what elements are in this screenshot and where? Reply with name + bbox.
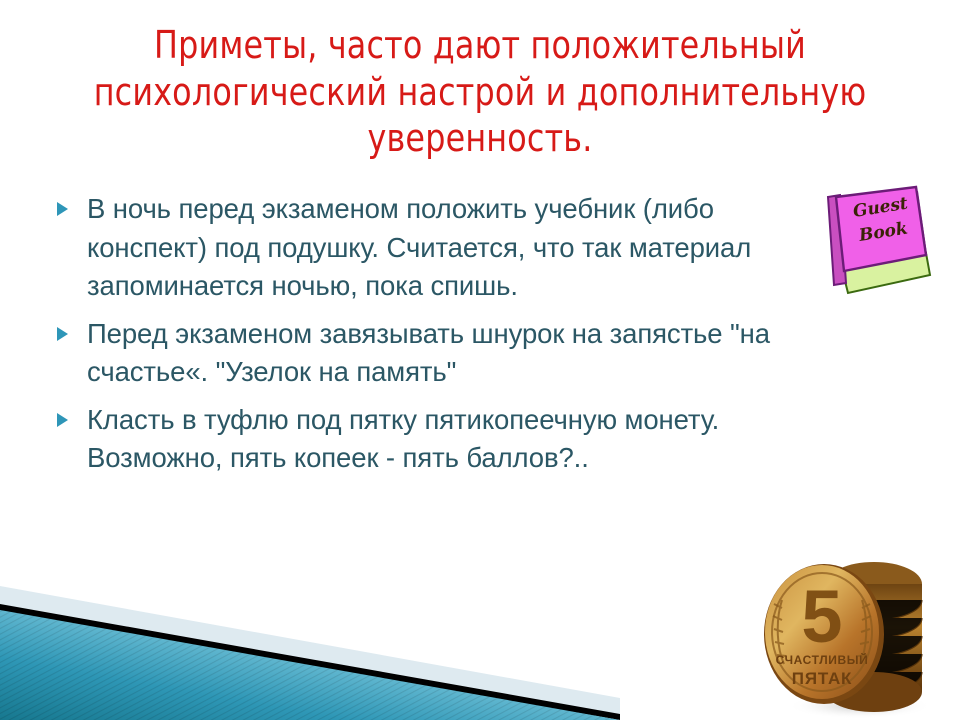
banner-texture <box>0 610 620 720</box>
triangle-bullet-icon <box>57 413 68 427</box>
list-item: Класть в туфлю под пятку пятикопеечную м… <box>55 401 775 478</box>
banner-black-stripe <box>0 604 620 720</box>
list-item-text: Класть в туфлю под пятку пятикопеечную м… <box>87 404 719 474</box>
list-item-text: Перед экзаменом завязывать шнурок на зап… <box>87 318 770 388</box>
coin-front-face: 5 СЧАСТЛИВЫЙ ПЯТАК <box>764 564 884 704</box>
triangle-bullet-icon <box>57 327 68 341</box>
coin-inscription-line1: СЧАСТЛИВЫЙ <box>776 652 869 667</box>
slide-canvas: Приметы, часто дают положительный психол… <box>0 0 960 720</box>
triangle-bullet-icon <box>57 202 68 216</box>
banner-teal-band <box>0 610 620 720</box>
list-item: Перед экзаменом завязывать шнурок на зап… <box>55 315 775 392</box>
coin-denomination: 5 <box>801 575 842 658</box>
guest-book-clipart: Guest Book <box>806 183 938 301</box>
bullet-list: В ночь перед экзаменом положить учебник … <box>55 190 775 487</box>
diagonal-banner <box>0 560 620 720</box>
page-title: Приметы, часто дают положительный психол… <box>89 22 870 162</box>
coin-inscription-line2: ПЯТАК <box>792 669 852 688</box>
five-kopeck-coin-stack: 5 СЧАСТЛИВЫЙ ПЯТАК <box>752 556 942 720</box>
list-item: В ночь перед экзаменом положить учебник … <box>55 190 775 306</box>
banner-pale-band <box>0 586 620 720</box>
list-item-text: В ночь перед экзаменом положить учебник … <box>87 193 751 301</box>
